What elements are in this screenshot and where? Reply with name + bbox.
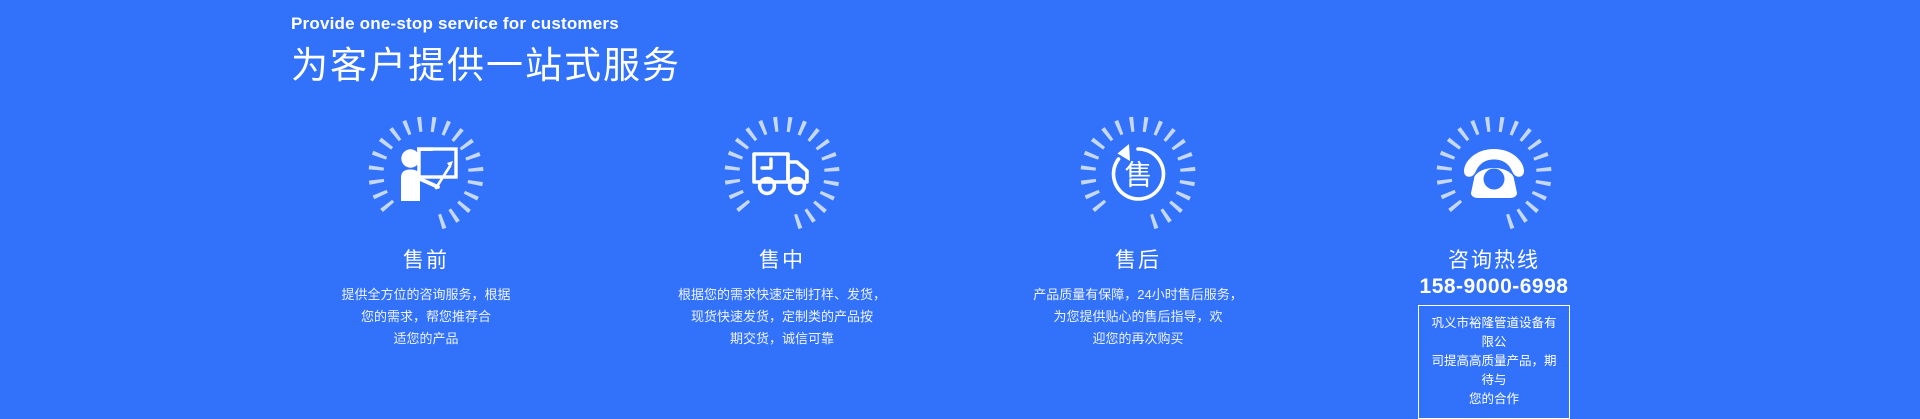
desc-line: 迎您的再次购买 (1033, 328, 1242, 350)
presenter-board-icon (391, 139, 461, 209)
service-description: 提供全方位的咨询服务，根据 您的需求，帮您推荐合 适您的产品 (341, 284, 510, 350)
desc-line: 您的需求，帮您推荐合 (341, 306, 510, 328)
desc-line: 为您提供贴心的售后指导，欢 (1033, 306, 1242, 328)
eyebrow-text: Provide one-stop service for customers (291, 14, 681, 34)
service-title: 售后 (1115, 248, 1161, 273)
service-column-presales[interactable]: 售前 提供全方位的咨询服务，根据 您的需求，帮您推荐合 适您的产品 (291, 112, 561, 419)
service-title: 售中 (759, 248, 805, 273)
delivery-truck-icon (747, 139, 817, 209)
after-sales-refresh-icon: 售 (1103, 139, 1173, 209)
hotline-label: 咨询热线 (1448, 248, 1540, 273)
note-line: 巩义市裕隆管道设备有限公 (1431, 314, 1557, 352)
icon-ring-wrapper (1432, 112, 1556, 236)
company-note-box: 巩义市裕隆管道设备有限公 司提高高质量产品，期待与 您的合作 (1418, 305, 1570, 419)
note-line: 您的合作 (1431, 390, 1557, 409)
service-column-aftersales[interactable]: 售 售后 产品质量有保障，24小时售后服务， 为您提供贴心的售后指导，欢 迎您的… (1003, 112, 1273, 419)
service-banner: Provide one-stop service for customers 为… (0, 0, 1920, 413)
page-title: 为客户提供一站式服务 (291, 43, 681, 89)
service-columns: 售前 提供全方位的咨询服务，根据 您的需求，帮您推荐合 适您的产品 (291, 112, 1629, 419)
icon-ring-wrapper (364, 112, 488, 236)
desc-line: 适您的产品 (341, 328, 510, 350)
heading-block: Provide one-stop service for customers 为… (291, 14, 681, 90)
desc-line: 现货快速发货，定制类的产品按 (678, 306, 886, 328)
desc-line: 提供全方位的咨询服务，根据 (341, 284, 510, 306)
service-column-insales[interactable]: 售中 根据您的需求快速定制打样、发货， 现货快速发货，定制类的产品按 期交货，诚… (647, 112, 917, 419)
desc-line: 根据您的需求快速定制打样、发货， (678, 284, 886, 306)
service-description: 产品质量有保障，24小时售后服务， 为您提供贴心的售后指导，欢 迎您的再次购买 (1033, 284, 1242, 350)
note-line: 司提高高质量产品，期待与 (1431, 352, 1557, 390)
telephone-icon (1459, 139, 1529, 209)
service-description: 根据您的需求快速定制打样、发货， 现货快速发货，定制类的产品按 期交货，诚信可靠 (678, 284, 886, 350)
hotline-number[interactable]: 158-9000-6998 (1420, 275, 1569, 299)
desc-line: 产品质量有保障，24小时售后服务， (1033, 284, 1242, 306)
icon-ring-wrapper (720, 112, 844, 236)
icon-ring-wrapper: 售 (1076, 112, 1200, 236)
svg-text:售: 售 (1124, 160, 1152, 191)
service-column-hotline[interactable]: 咨询热线 158-9000-6998 巩义市裕隆管道设备有限公 司提高高质量产品… (1359, 112, 1629, 419)
service-title: 售前 (403, 248, 449, 273)
desc-line: 期交货，诚信可靠 (678, 328, 886, 350)
